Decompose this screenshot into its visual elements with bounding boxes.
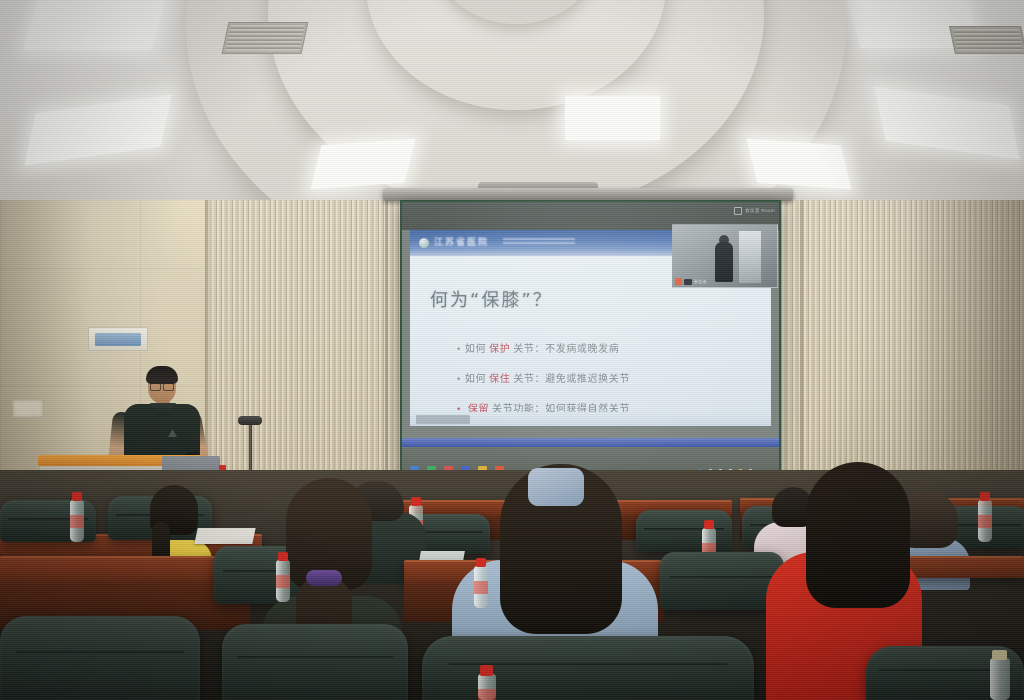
bottle-label xyxy=(70,515,84,528)
vc-participant-nametag: 参会者 xyxy=(675,278,707,285)
camera-icon xyxy=(684,279,692,285)
app-accent-bar xyxy=(402,438,779,447)
ceiling-light-panel xyxy=(24,94,171,165)
water-bottle xyxy=(70,500,84,542)
projected-desktop: 江苏省医院 何为“保膝”？ • 如何 保护 关节：不发病或晚发病 • 如何 xyxy=(402,202,779,485)
ceiling-light-panel-center xyxy=(565,96,660,140)
bullet-text-highlight: 保护 xyxy=(489,340,510,355)
slide-footer-strip xyxy=(410,412,771,426)
slide-control-button[interactable] xyxy=(416,415,470,424)
bottle-cap xyxy=(980,492,990,501)
hair-tie xyxy=(306,570,342,586)
bottle-cap xyxy=(411,497,421,506)
water-bottle xyxy=(990,658,1010,700)
meeting-icon xyxy=(734,207,742,215)
ceiling-light-panel xyxy=(874,87,1019,160)
bottle-label xyxy=(474,581,488,594)
bottle-cap xyxy=(476,558,486,567)
ceiling-air-vent xyxy=(222,22,309,54)
bottle-cap xyxy=(992,650,1007,660)
ceiling-light-panel xyxy=(747,139,852,190)
bottle-cap xyxy=(480,665,493,676)
slide-banner-subtitle xyxy=(503,238,575,246)
bullet-text-pre: 如何 xyxy=(465,370,486,385)
projection-screen[interactable]: 江苏省医院 何为“保膝”？ • 如何 保护 关节：不发病或晚发病 • 如何 xyxy=(400,200,781,487)
wall-sign-plaque xyxy=(88,327,148,351)
water-bottle xyxy=(978,500,992,542)
bullet-text-pre: 如何 xyxy=(465,340,486,355)
ceiling-light-panel xyxy=(311,139,416,190)
bullet-text-post: 关节：避免或推迟换关节 xyxy=(513,370,630,385)
vc-participant-name: 参会者 xyxy=(694,279,707,285)
slide-banner-org-name: 江苏省医院 xyxy=(434,235,489,248)
vc-background-door xyxy=(739,231,761,283)
microphone-icon xyxy=(238,416,262,425)
vc-room-label-text: 会议室 Room xyxy=(745,208,775,214)
hair-clip xyxy=(528,468,584,506)
person-hair xyxy=(806,462,910,608)
bullet-text-highlight: 保住 xyxy=(489,370,510,385)
bullet-marker-icon: • xyxy=(456,346,462,355)
water-bottle xyxy=(474,566,488,608)
handout-paper xyxy=(194,528,255,544)
bottle-label xyxy=(276,575,290,588)
bottle-cap xyxy=(72,492,82,501)
vc-participant-body xyxy=(715,242,733,282)
water-bottle xyxy=(478,674,496,700)
slide-bullet-item: • 如何 保住 关节：避免或推迟换关节 xyxy=(456,370,761,385)
audience-chair-foreground xyxy=(0,616,200,700)
slide-bullet-item: • 如何 保护 关节：不发病或晚发病 xyxy=(456,340,761,355)
conference-room-photo: 江苏省医院 何为“保膝”？ • 如何 保护 关节：不发病或晚发病 • 如何 xyxy=(0,0,1024,700)
audience-chair-foreground xyxy=(422,636,754,700)
audience-chair xyxy=(636,510,732,552)
ceiling xyxy=(0,0,1024,200)
bottle-label xyxy=(478,689,496,700)
slide-title: 何为“保膝”？ xyxy=(430,286,553,312)
bullet-text-post: 关节：不发病或晚发病 xyxy=(513,340,619,355)
hospital-logo-icon xyxy=(419,238,429,248)
ceiling-light-panel xyxy=(23,0,165,50)
vc-room-label: 会议室 Room xyxy=(734,207,775,215)
audience-chair-foreground xyxy=(222,624,408,700)
record-indicator-icon xyxy=(675,278,682,285)
audience-desk xyxy=(0,556,250,584)
ceiling-air-vent xyxy=(949,26,1024,54)
bullet-marker-icon: • xyxy=(456,376,462,385)
water-bottle xyxy=(276,560,290,602)
bottle-label xyxy=(978,515,992,528)
bottle-cap xyxy=(704,520,714,529)
wall-outlet xyxy=(12,399,44,418)
bottle-cap xyxy=(278,552,288,561)
glasses-icon xyxy=(150,382,174,389)
video-conference-thumbnail[interactable]: 参会者 xyxy=(672,224,778,288)
